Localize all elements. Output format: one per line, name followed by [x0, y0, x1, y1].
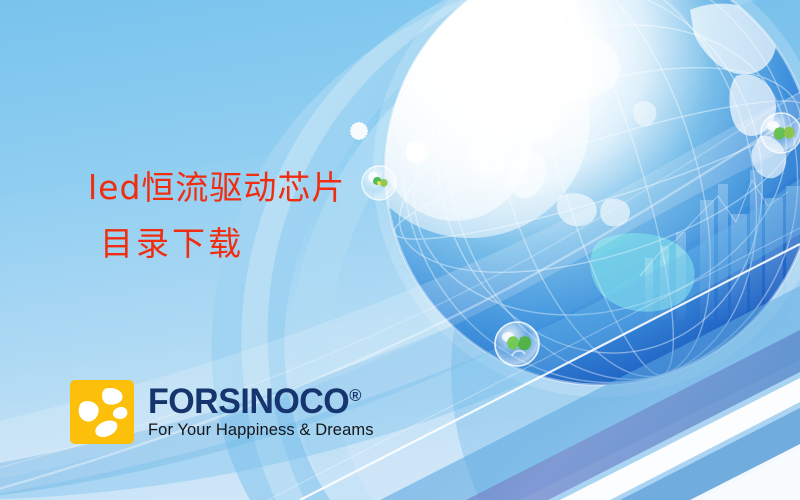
logo-tagline: For Your Happiness & Dreams [148, 420, 374, 440]
starburst-icon [350, 122, 429, 164]
bubble-globe-icon [362, 166, 396, 200]
logo-wordmark-text: FORSINOCO [148, 382, 349, 421]
pinwheel-flower-icon [70, 380, 134, 444]
company-logo[interactable]: FORSINOCO® For Your Happiness & Dreams [70, 380, 374, 444]
headline-line-2: 目录下载 [88, 216, 345, 272]
bubble-leaf-icon [761, 113, 800, 153]
bubble-leaf-icon [495, 322, 539, 366]
banner-canvas: led恒流驱动芯片 目录下载 FORSINOCO® For Your Happ [0, 0, 800, 500]
logo-text-block: FORSINOCO® For Your Happiness & Dreams [148, 385, 374, 440]
logo-wordmark: FORSINOCO® [148, 385, 367, 418]
headline-block: led恒流驱动芯片 目录下载 [88, 160, 345, 272]
registered-trademark-icon: ® [349, 386, 361, 405]
headline-line-1: led恒流驱动芯片 [88, 160, 345, 216]
